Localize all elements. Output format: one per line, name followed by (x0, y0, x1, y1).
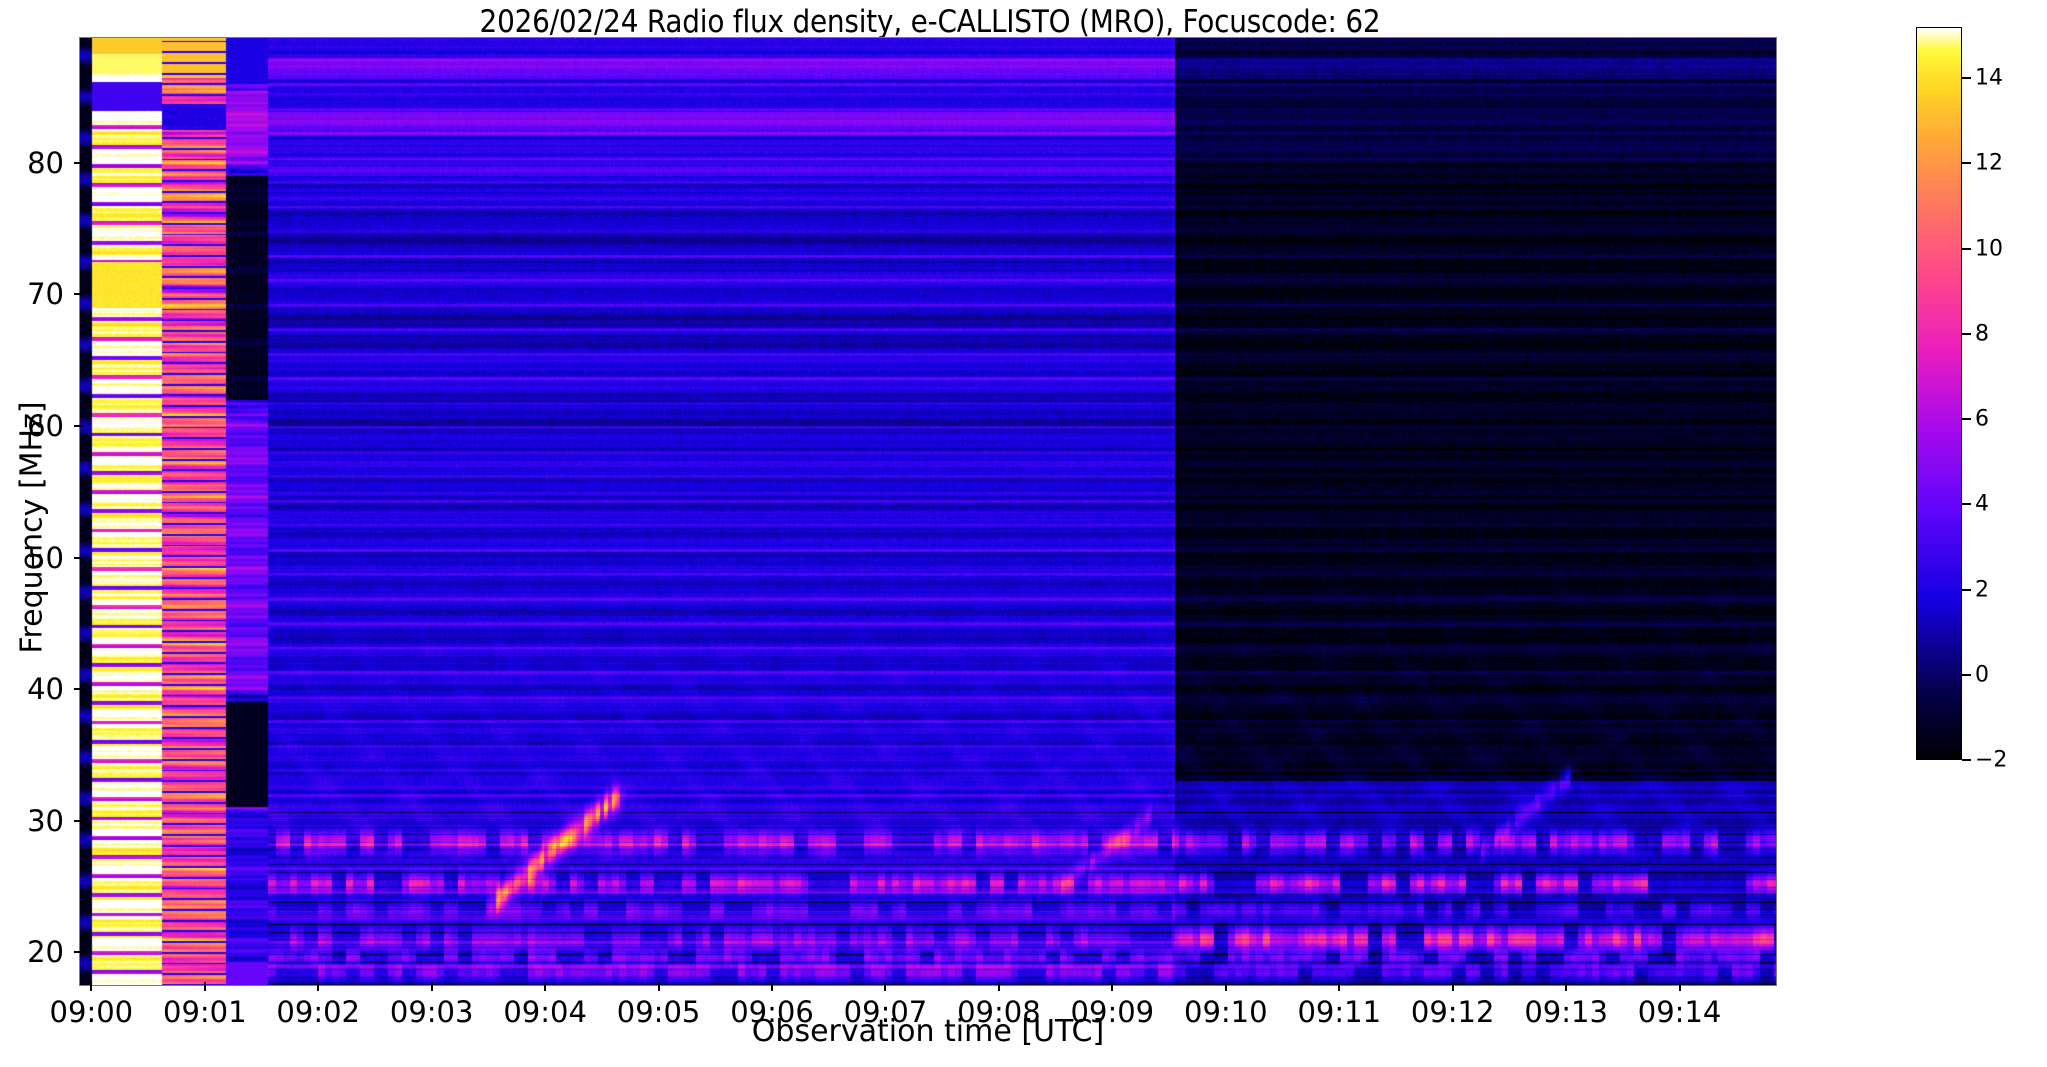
colorbar-tick-label: 0 (1975, 662, 1989, 687)
y-tick-label: 20 (0, 935, 64, 969)
x-tick-mark (998, 982, 1000, 991)
x-axis-title: Observation time [UTC] (79, 1014, 1777, 1049)
colorbar-tick-mark (1962, 248, 1971, 250)
y-tick-label: 70 (0, 277, 64, 311)
colorbar-tick-mark (1962, 162, 1971, 164)
colorbar-tick-mark (1962, 333, 1971, 335)
y-tick-mark (74, 162, 83, 164)
colorbar-tick-label: 12 (1975, 151, 2003, 176)
y-tick-mark (74, 688, 83, 690)
colorbar-tick-mark (1962, 759, 1971, 761)
x-tick-mark (544, 982, 546, 991)
colorbar (1916, 27, 1962, 760)
x-tick-mark (204, 982, 206, 991)
colorbar-tick-label: 10 (1975, 236, 2003, 261)
colorbar-tick-label: 2 (1975, 577, 1989, 602)
colorbar-tick-label: 8 (1975, 321, 1989, 346)
page-title: 2026/02/24 Radio flux density, e-CALLIST… (0, 4, 1860, 40)
y-axis-title: Frequency [MHz] (15, 328, 50, 728)
colorbar-tick-mark (1962, 674, 1971, 676)
y-tick-mark (74, 557, 83, 559)
x-tick-mark (771, 982, 773, 991)
x-tick-mark (1225, 982, 1227, 991)
colorbar-tick-mark (1962, 418, 1971, 420)
x-tick-mark (317, 982, 319, 991)
colorbar-tick-mark (1962, 589, 1971, 591)
y-tick-mark (74, 293, 83, 295)
colorbar-tick-label: 4 (1975, 492, 1989, 517)
x-tick-mark (1679, 982, 1681, 991)
x-tick-mark (1111, 982, 1113, 991)
colorbar-tick-label: 14 (1975, 66, 2003, 91)
spectrogram-image (80, 38, 1776, 985)
y-tick-mark (74, 820, 83, 822)
colorbar-tick-mark (1962, 503, 1971, 505)
y-tick-label: 80 (0, 146, 64, 180)
colorbar-tick-label: 6 (1975, 407, 1989, 432)
x-tick-mark (884, 982, 886, 991)
x-tick-mark (90, 982, 92, 991)
x-tick-mark (658, 982, 660, 991)
x-tick-mark (1452, 982, 1454, 991)
y-tick-mark (74, 425, 83, 427)
colorbar-tick-label: −2 (1975, 748, 2007, 773)
x-tick-mark (1338, 982, 1340, 991)
spectrogram-plot-area (79, 37, 1777, 986)
colorbar-tick-mark (1962, 77, 1971, 79)
x-tick-mark (431, 982, 433, 991)
y-tick-mark (74, 951, 83, 953)
x-tick-mark (1565, 982, 1567, 991)
y-tick-label: 30 (0, 804, 64, 838)
colorbar-gradient (1917, 28, 1962, 760)
